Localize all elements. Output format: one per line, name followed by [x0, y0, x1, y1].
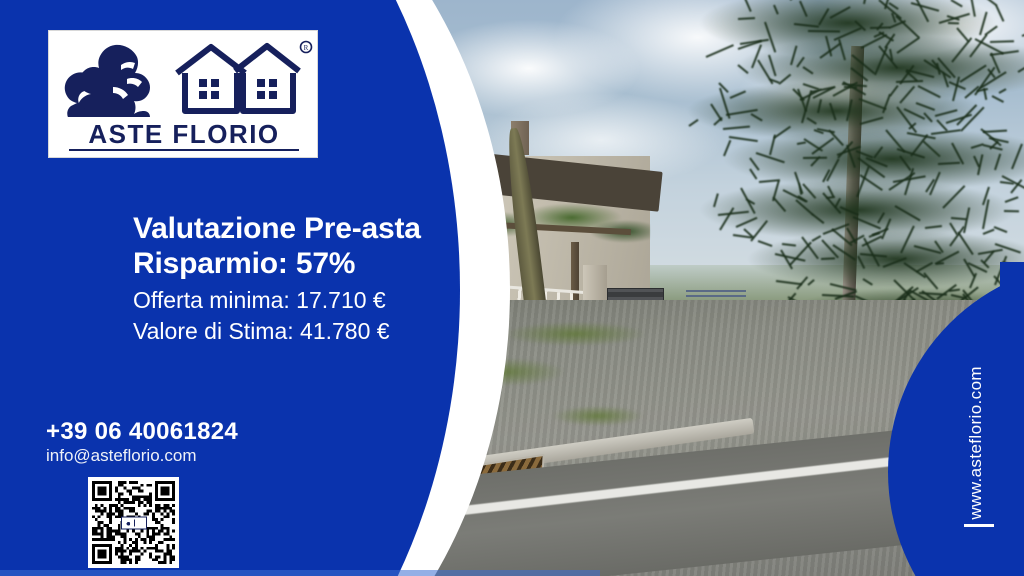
cedar-needle [857, 255, 865, 269]
cedar-needle [995, 243, 1021, 253]
cedar-needle [812, 137, 835, 155]
cedar-needle [773, 4, 779, 14]
cedar-needle [916, 102, 935, 111]
cedar-needle [901, 226, 916, 254]
cedar-needle [862, 278, 872, 286]
right-blue-blob-fill [1000, 262, 1024, 576]
cedar-needle [899, 86, 915, 104]
cedar-needle [789, 0, 814, 1]
cedar-needle [782, 243, 796, 247]
grass-patch [505, 322, 645, 346]
cedar-needle [863, 0, 869, 4]
cedar-needle [735, 216, 757, 227]
cedar-needle [935, 110, 958, 118]
company-logo[interactable]: R ASTE FLORIO [48, 30, 318, 158]
qr-embedded-logo-icon [121, 516, 147, 529]
cedar-needle [730, 90, 746, 98]
cedar-needle [942, 185, 965, 209]
cedar-needle [882, 94, 891, 114]
cedar-needle [769, 135, 776, 156]
cedar-needle [872, 232, 880, 236]
cedar-needle [846, 99, 853, 121]
cedar-needle [948, 81, 965, 90]
estimated-value-text: Valore di Stima: 41.780 € [133, 316, 390, 347]
cedar-needle [977, 155, 983, 176]
cedar-needle [899, 156, 911, 172]
auction-listing-poster: R ASTE FLORIO Valutazione Pre-asta Rispa… [0, 0, 1024, 576]
cedar-needle [860, 117, 884, 125]
logo-wordmark: ASTE FLORIO [49, 121, 319, 147]
cedar-needle [873, 146, 883, 159]
cedar-needle [807, 279, 815, 286]
cedar-needle [982, 229, 994, 235]
cedar-needle [1004, 196, 1018, 203]
cedar-needle [819, 43, 840, 59]
cedar-needle [896, 37, 919, 54]
cedar-needle [911, 2, 939, 12]
email-address[interactable]: info@asteflorio.com [46, 446, 197, 466]
headline-line-2: Risparmio: 57% [133, 246, 421, 281]
cedar-needle [1017, 61, 1024, 73]
cedar-needle [925, 225, 942, 229]
cedar-needle [964, 259, 976, 278]
cedar-needle [808, 30, 840, 33]
cedar-needle [737, 64, 749, 74]
cedar-needle [951, 0, 963, 8]
cedar-needle [818, 8, 829, 25]
cedar-needle [951, 217, 966, 220]
cedar-needle [827, 185, 834, 197]
qr-code-canvas [92, 481, 175, 564]
cedar-needle [688, 119, 698, 127]
cedar-needle [951, 142, 964, 164]
cedar-needle [738, 17, 755, 20]
lion-icon [65, 45, 178, 117]
headline-block: Valutazione Pre-asta Risparmio: 57% [133, 211, 421, 282]
cedar-needle [1011, 144, 1023, 169]
house-icon [177, 46, 299, 111]
cedar-needle [877, 212, 885, 224]
cedar-needle [775, 253, 806, 262]
registered-mark-glyph: R [304, 44, 309, 52]
cedar-needle [821, 257, 835, 260]
cedar-needle [994, 154, 1001, 170]
cedar-needle [983, 130, 1007, 133]
cedar-needle [723, 140, 731, 157]
cedar-needle [970, 143, 983, 149]
cedar-needle [768, 54, 777, 76]
cedar-needle [757, 240, 772, 247]
bottom-edge-tint [0, 570, 600, 576]
cedar-needle [952, 37, 973, 62]
cedar-needle [999, 181, 1013, 185]
cedar-branch [746, 230, 1024, 288]
phone-number[interactable]: +39 06 40061824 [46, 418, 238, 446]
cedar-needle [964, 86, 979, 99]
price-details-block: Offerta minima: 17.710 € Valore di Stima… [133, 285, 390, 347]
cedar-needle [718, 211, 749, 216]
minimum-offer-text: Offerta minima: 17.710 € [133, 285, 390, 316]
cedar-needle [797, 141, 806, 145]
cedar-needle [828, 129, 843, 146]
cedar-needle [790, 45, 798, 65]
cedar-needle [983, 0, 997, 7]
cedar-needle [970, 0, 976, 17]
grass-patch [553, 406, 643, 426]
cedar-needle [817, 99, 822, 113]
cedar-needle [713, 193, 719, 207]
cedar-needle [802, 66, 813, 74]
cedar-needle [807, 118, 817, 125]
cedar-needle [839, 206, 858, 216]
cedar-needle [1004, 210, 1019, 212]
cedar-needle [948, 22, 959, 24]
cedar-needle [719, 207, 734, 231]
cedar-needle [751, 113, 763, 121]
cedar-needle [799, 1, 808, 18]
logo-graphics: R [49, 35, 319, 117]
cedar-needle [829, 103, 837, 121]
cedar-needle [910, 134, 928, 157]
cedar-needle [850, 67, 868, 82]
cedar-needle [894, 206, 920, 222]
cedar-needle [794, 23, 819, 28]
cedar-needle [938, 162, 960, 165]
headline-line-1: Valutazione Pre-asta [133, 211, 421, 246]
cedar-needle [743, 0, 752, 12]
website-url[interactable]: www.asteflorio.com [966, 366, 986, 520]
cedar-needle [705, 44, 733, 58]
logo-underline [69, 149, 299, 151]
qr-code[interactable] [88, 477, 179, 568]
cedar-needle [710, 103, 722, 121]
cedar-needle [830, 6, 851, 19]
cedar-needle [916, 261, 934, 272]
cedar-needle [999, 88, 1007, 94]
cedar-needle [914, 245, 942, 254]
cedar-needle [990, 50, 1019, 56]
cedar-needle [931, 129, 961, 135]
cedar-needle [780, 250, 793, 270]
cedar-needle [772, 197, 786, 213]
url-underline-dash [964, 524, 994, 527]
cedar-needle [919, 292, 947, 296]
